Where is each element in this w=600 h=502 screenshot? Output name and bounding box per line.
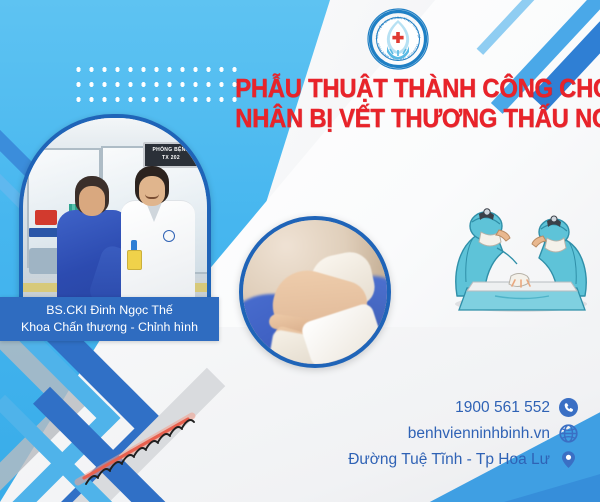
surgical-hands-closeup-photo <box>239 216 391 368</box>
room-sign: PHÒNG BỆNH TX 202 <box>143 142 199 168</box>
doctor-id-badge <box>127 250 142 270</box>
contact-row-phone[interactable]: 1900 561 552 <box>455 398 578 417</box>
caption-doctor-name: BS.CKI Đinh Ngọc Thế <box>46 302 173 319</box>
doctor-caption-banner: BS.CKI Đinh Ngọc Thế Khoa Chấn thương - … <box>0 297 219 341</box>
poster-headline: PHẪU THUẬT THÀNH CÔNG CHO BỆNH NHÂN BỊ V… <box>235 74 587 134</box>
contact-website-text: benhvienninhbinh.vn <box>408 425 550 443</box>
contact-address-text: Đường Tuệ Tĩnh - Tp Hoa Lư <box>348 451 550 469</box>
phone-icon <box>559 398 578 417</box>
headline-line-2: NHÂN BỊ VẾT THƯƠNG THẤU NGỰC NẶNG <box>235 104 587 134</box>
headline-line-1: PHẪU THUẬT THÀNH CÔNG CHO BỆNH <box>235 74 587 104</box>
contact-row-address[interactable]: Đường Tuệ Tĩnh - Tp Hoa Lư <box>348 450 578 469</box>
hospital-news-poster: BỆNH VIỆN ĐA KHOA TỈNH NINH BÌNH NINH BI… <box>0 0 600 502</box>
contact-phone-text: 1900 561 552 <box>455 399 550 417</box>
sutured-wound-illustration <box>70 408 200 490</box>
wall-sign-red <box>35 210 57 225</box>
room-sign-line-2: TX 202 <box>145 155 197 163</box>
two-surgeons-operating-illustration <box>437 192 597 314</box>
caption-department: Khoa Chấn thương - Chỉnh hình <box>21 319 198 336</box>
ninh-binh-general-hospital-logo: BỆNH VIỆN ĐA KHOA TỈNH NINH BÌNH NINH BI… <box>361 6 435 76</box>
contact-row-website[interactable]: benhvienninhbinh.vn <box>408 424 578 443</box>
contact-block: 1900 561 552 benhvienninhbinh.vn <box>348 398 578 469</box>
globe-icon <box>559 424 578 443</box>
room-sign-line-1: PHÒNG BỆNH <box>145 147 197 155</box>
decor-dot-grid <box>72 62 240 106</box>
location-icon <box>559 450 578 469</box>
